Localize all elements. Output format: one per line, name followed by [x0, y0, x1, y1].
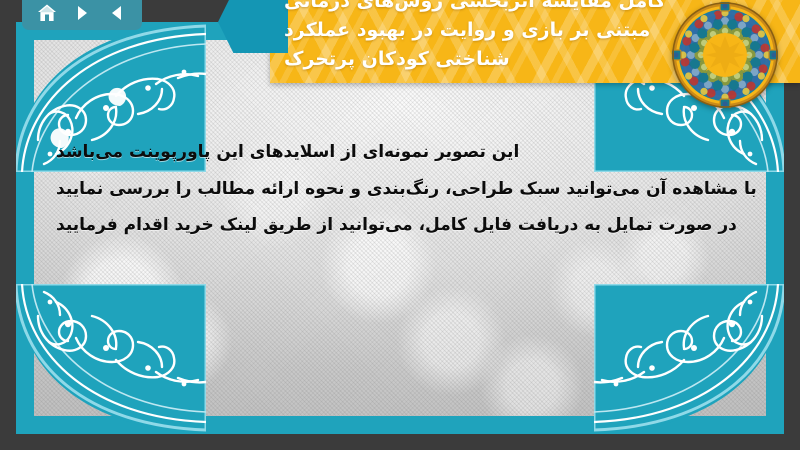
- slide-preview-root: این تصویر نمونه‌ای از اسلایدهای این پاور…: [0, 0, 800, 450]
- islamic-mandala-icon: [672, 2, 778, 108]
- title-line-1: کامل مقایسه اثربخشی روش‌های درمانی: [284, 0, 665, 15]
- navigation-bar: [22, 0, 142, 30]
- home-icon: [37, 3, 57, 23]
- forward-button[interactable]: [69, 1, 95, 25]
- title-line-2: مبتنی بر بازی و روایت در بهبود عملکرد: [284, 17, 650, 44]
- title-line-3: شناختی کودکان پرتحرک: [284, 46, 510, 73]
- forward-arrow-icon: [73, 4, 91, 22]
- back-button[interactable]: [104, 1, 130, 25]
- body-line-1: این تصویر نمونه‌ای از اسلایدهای این پاور…: [56, 140, 519, 166]
- body-line-3: در صورت تمایل به دریافت فایل کامل، می‌تو…: [56, 213, 737, 239]
- slide-frame: این تصویر نمونه‌ای از اسلایدهای این پاور…: [16, 22, 784, 434]
- body-line-2: با مشاهده آن می‌توانید سبک طراحی، رنگ‌بن…: [56, 177, 757, 203]
- home-button[interactable]: [34, 1, 60, 25]
- back-arrow-icon: [108, 4, 126, 22]
- slide-body-text: این تصویر نمونه‌ای از اسلایدهای این پاور…: [56, 140, 744, 239]
